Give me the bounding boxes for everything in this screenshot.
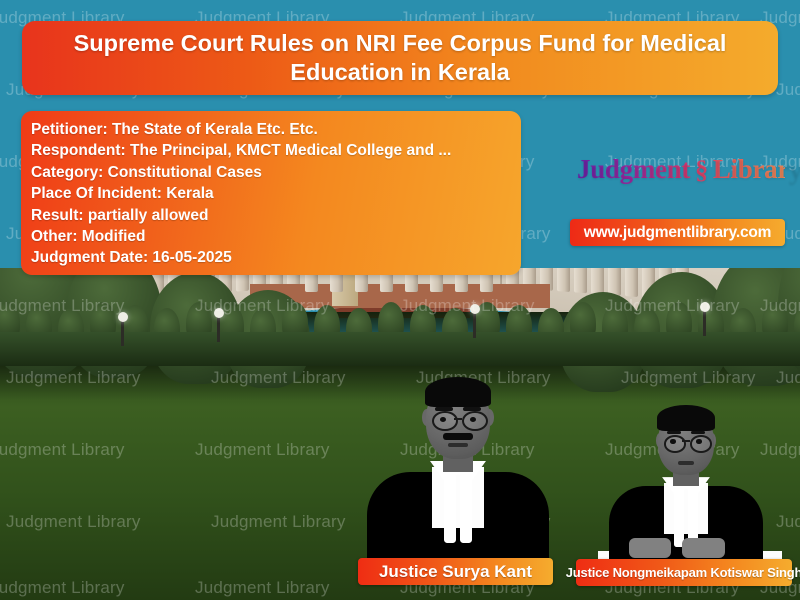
hand <box>629 538 671 558</box>
brand-word-two: Library <box>713 154 800 184</box>
moustache <box>443 433 473 441</box>
judge-name-left: Justice Surya Kant <box>379 562 532 582</box>
website-url-text: www.judgmentlibrary.com <box>584 224 771 242</box>
neck-band <box>444 476 456 543</box>
mouth <box>448 443 467 447</box>
poster-canvas: Judgment LibraryJudgment LibraryJudgment… <box>0 0 800 600</box>
lamp-globe <box>470 304 480 314</box>
detail-other: Other: Modified <box>31 226 521 247</box>
detail-petitioner: Petitioner: The State of Kerala Etc. Etc… <box>31 119 521 140</box>
neck-band <box>674 490 684 547</box>
colonnade-column <box>574 268 587 293</box>
colonnade-column <box>608 268 621 296</box>
judge-name-badge-right: Justice Nongmeikapam Kotiswar Singh <box>576 559 792 586</box>
eyeglasses-bridge <box>682 440 689 442</box>
mouth <box>678 461 695 465</box>
detail-result: Result: partially allowed <box>31 205 521 226</box>
neck-band <box>460 476 472 543</box>
shirt <box>432 467 484 527</box>
title-banner: Supreme Court Rules on NRI Fee Corpus Fu… <box>22 21 778 95</box>
judge-portrait-kotiswar-singh <box>604 398 774 573</box>
lamp-globe <box>214 308 224 318</box>
eye <box>670 439 676 444</box>
page-title: Supreme Court Rules on NRI Fee Corpus Fu… <box>22 29 778 86</box>
detail-judgment-date: Judgment Date: 16-05-2025 <box>31 247 521 268</box>
hair <box>657 405 714 431</box>
brand-logo[interactable]: Judgment§Library <box>577 152 785 186</box>
lamp-post <box>703 310 706 336</box>
lamp-globe <box>700 302 710 312</box>
colonnade-column <box>591 268 604 295</box>
eyebrow <box>435 407 452 411</box>
colonnade-column <box>625 268 638 297</box>
hair <box>425 377 492 407</box>
shirt <box>664 483 708 535</box>
section-symbol-icon: § <box>695 155 708 184</box>
eye <box>440 417 446 422</box>
eye <box>696 439 702 444</box>
hedge-row <box>0 332 800 366</box>
detail-respondent: Respondent: The Principal, KMCT Medical … <box>31 140 521 161</box>
lamp-post <box>121 320 124 346</box>
lamp-globe <box>118 312 128 322</box>
eyeglasses-lens <box>664 435 686 453</box>
case-details-panel: Petitioner: The State of Kerala Etc. Etc… <box>21 111 521 275</box>
eyeglasses-bridge <box>454 418 463 420</box>
lamp-post <box>217 316 220 342</box>
eyebrow <box>463 407 480 411</box>
brand-word-one: Judgment <box>577 154 690 184</box>
detail-place: Place Of Incident: Kerala <box>31 183 521 204</box>
hand <box>682 538 724 558</box>
eyebrow <box>691 431 706 434</box>
eyebrow <box>667 431 682 434</box>
detail-category: Category: Constitutional Cases <box>31 162 521 183</box>
lamp-post <box>473 312 476 338</box>
judge-name-right: Justice Nongmeikapam Kotiswar Singh <box>566 565 800 580</box>
judge-portrait-surya-kant <box>370 368 545 573</box>
watermark-text: Judgment Library <box>776 80 800 100</box>
eyeglasses-lens <box>690 435 712 453</box>
judge-name-badge-left: Justice Surya Kant <box>358 558 553 585</box>
website-url-ribbon[interactable]: www.judgmentlibrary.com <box>570 219 785 246</box>
colonnade-column <box>557 268 570 292</box>
